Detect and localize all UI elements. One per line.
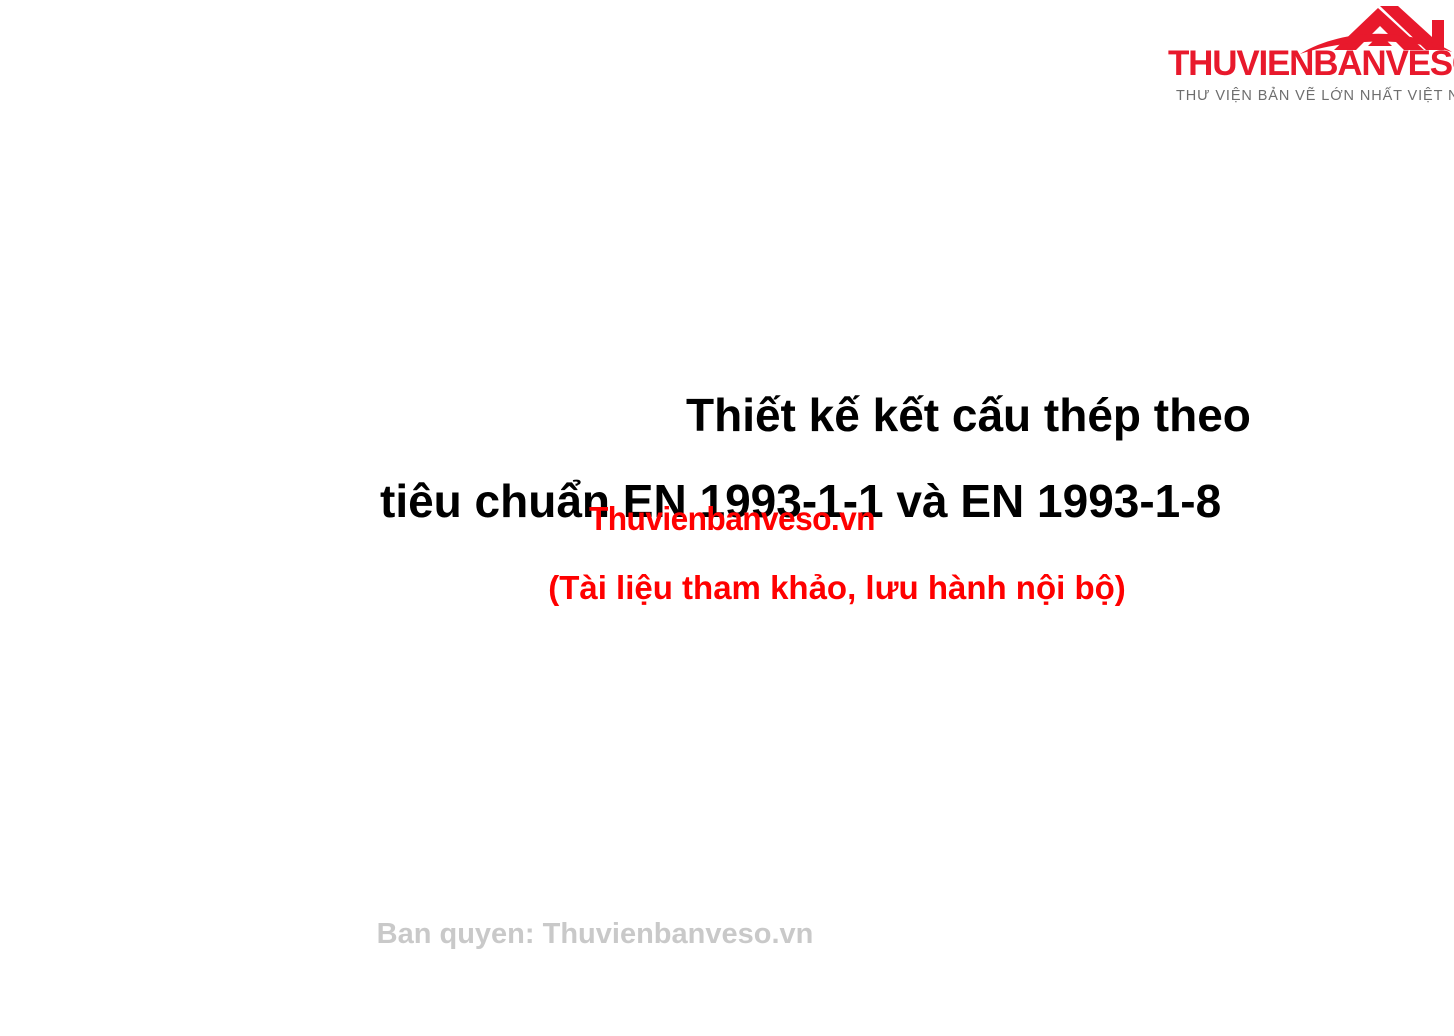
document-page: THUVIENBANVESO .vn THƯ VIỆN BẢN VẼ LỚN N…: [0, 0, 1454, 1036]
logo-tagline: THƯ VIỆN BẢN VẼ LỚN NHẤT VIỆT NAM: [1176, 88, 1454, 104]
site-logo[interactable]: THUVIENBANVESO .vn THƯ VIỆN BẢN VẼ LỚN N…: [1154, 4, 1454, 116]
watermark-text: Thuvienbanveso.vn: [589, 502, 875, 535]
page-subtitle: (Tài liệu tham khảo, lưu hành nội bộ): [0, 570, 1454, 606]
logo-word-text: THUVIENBANVESO: [1168, 46, 1454, 81]
copyright-footer: Ban quyen: Thuvienbanveso.vn: [0, 918, 1454, 951]
logo-wordmark: THUVIENBANVESO .vn: [1168, 46, 1454, 82]
title-line-1: Thiết kế kết cấu thép theo: [686, 392, 1251, 438]
